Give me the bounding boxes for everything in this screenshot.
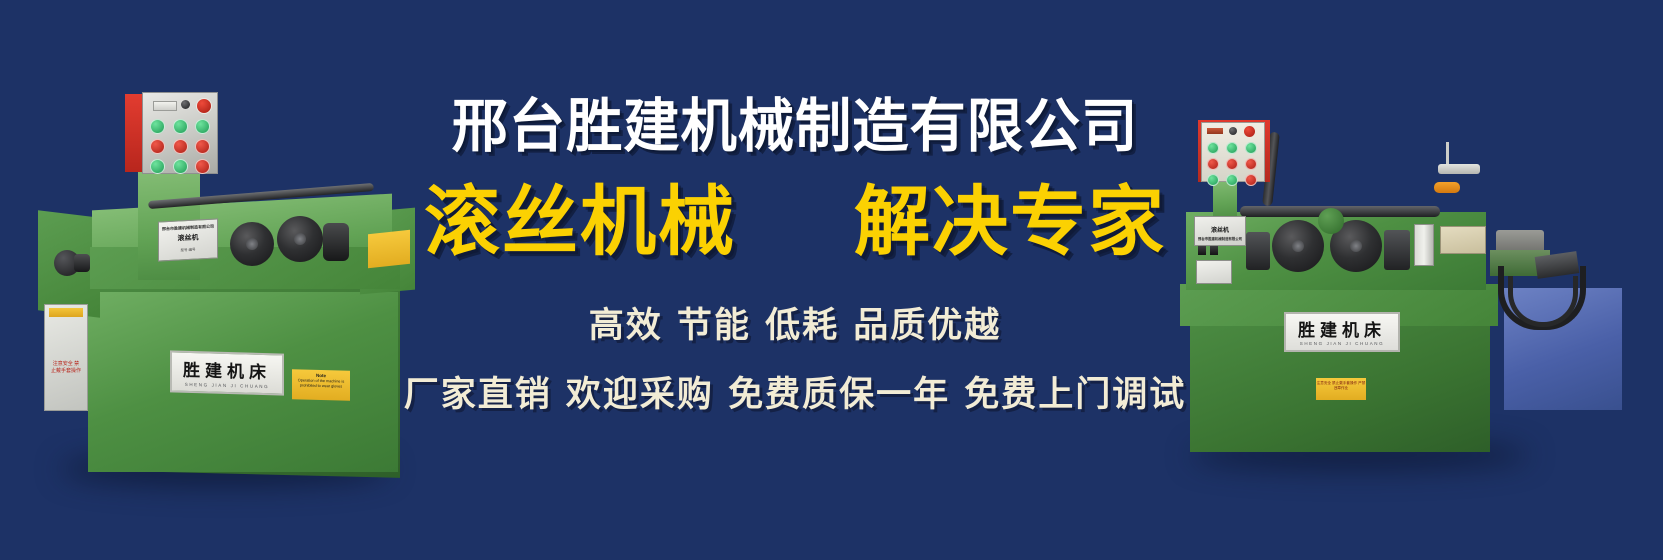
- machine-right-emergency-stop-button[interactable]: [1244, 126, 1255, 137]
- panel-button-g5[interactable]: [1226, 174, 1238, 186]
- machine-right-lubrication-manifold: [1434, 182, 1460, 193]
- subtitle-line-1: 高效 节能 低耗 品质优越: [380, 297, 1210, 348]
- panel-button-g2[interactable]: [173, 119, 188, 134]
- machine-left-panel-display: [153, 101, 177, 111]
- machine-right-brand-sign-pinyin: SHENG JIAN JI CHUANG: [1286, 341, 1398, 346]
- panel-button-r3[interactable]: [195, 139, 210, 154]
- panel-button-r2[interactable]: [1226, 158, 1238, 170]
- machine-left-electrical-cabinet: 注意安全 禁止戴手套操作: [44, 304, 88, 411]
- machine-right-control-panel: [1201, 122, 1265, 182]
- machine-left-panel-button-grid[interactable]: [150, 119, 212, 174]
- thread-rolling-machine-right: 滚丝机 邢台市胜建机械制造有限公司 胜建机床 SHENG JIAN JI CHU…: [1168, 120, 1663, 460]
- subtitle-line-2: 厂家直销 欢迎采购 免费质保一年 免费上门调试: [380, 366, 1210, 417]
- panel-button-r4[interactable]: [195, 159, 210, 174]
- machine-left-cabinet-label: [49, 308, 83, 317]
- headline-row: 滚丝机械 解决专家: [380, 182, 1210, 262]
- machine-right-panel-button-grid[interactable]: [1207, 142, 1259, 186]
- panel-button-r4[interactable]: [1245, 174, 1257, 186]
- machine-left-control-panel: [142, 92, 218, 174]
- panel-button-g1[interactable]: [150, 119, 165, 134]
- machine-right-brand-sign-cn: 胜建机床: [1286, 316, 1398, 341]
- machine-left-nameplate-spec: 型号 编号: [159, 246, 217, 254]
- machine-left-rolling-die-1: [230, 222, 274, 266]
- machine-left-nameplate: 邢台市胜建机械制造有限公司 滚丝机 型号 编号: [158, 218, 218, 261]
- headline-right: 解决专家: [854, 182, 1166, 262]
- machine-right-die-holder-right: [1384, 230, 1410, 270]
- machine-left-rolling-die-2: [277, 216, 323, 262]
- machine-right-gear-cover: [1318, 208, 1344, 234]
- banner-text-block: 邢台胜建机械制造有限公司 滚丝机械 解决专家 高效 节能 低耗 品质优越 厂家直…: [380, 95, 1210, 417]
- machine-left-nameplate-model: 滚丝机: [159, 231, 217, 244]
- panel-button-r3[interactable]: [1245, 158, 1257, 170]
- panel-button-g3[interactable]: [195, 119, 210, 134]
- promo-banner: 邢台市胜建机械制造有限公司 滚丝机 型号 编号 胜建机床 SHENG JIAN …: [0, 0, 1663, 560]
- machine-right-rolling-die-1: [1272, 220, 1324, 272]
- company-name: 邢台胜建机械制造有限公司: [392, 95, 1197, 158]
- machine-right-warning-sticker: 注意安全 禁止戴手套操作 严禁违章作业: [1316, 378, 1366, 400]
- machine-left-spindle-end: [74, 254, 90, 272]
- machine-right-die-holder-left: [1246, 232, 1270, 270]
- thread-rolling-machine-left: 邢台市胜建机械制造有限公司 滚丝机 型号 编号 胜建机床 SHENG JIAN …: [30, 92, 430, 472]
- machine-right-brand-sign: 胜建机床 SHENG JIAN JI CHUANG: [1284, 312, 1400, 352]
- machine-left-emergency-stop-button[interactable]: [196, 98, 212, 114]
- machine-left-die-holder: [323, 223, 349, 261]
- headline-left: 滚丝机械: [424, 182, 736, 262]
- machine-left-panel-knob-icon[interactable]: [181, 100, 190, 109]
- machine-left-warning-sticker: Note Operation of the machine is prohibi…: [292, 369, 350, 401]
- machine-right-warning-text: 注意安全 禁止戴手套操作 严禁违章作业: [1316, 381, 1366, 390]
- panel-button-g4[interactable]: [150, 159, 165, 174]
- machine-right-oiler: [1438, 164, 1480, 174]
- machine-right-tag-plate: [1440, 226, 1486, 254]
- panel-button-g5[interactable]: [173, 159, 188, 174]
- machine-right-switch-2[interactable]: [1210, 246, 1218, 255]
- machine-left-brand-sign-cn: 胜建机床: [172, 355, 282, 383]
- panel-button-g3[interactable]: [1245, 142, 1257, 154]
- panel-button-g2[interactable]: [1226, 142, 1238, 154]
- machine-right-cylinder: [1414, 224, 1434, 266]
- machine-left-cabinet-text: 注意安全 禁止戴手套操作: [51, 361, 81, 381]
- machine-right-panel-knob-icon[interactable]: [1229, 127, 1237, 135]
- panel-button-r2[interactable]: [173, 139, 188, 154]
- panel-button-r1[interactable]: [150, 139, 165, 154]
- machine-left-nameplate-company: 邢台市胜建机械制造有限公司: [159, 223, 217, 231]
- machine-left-brand-sign: 胜建机床 SHENG JIAN JI CHUANG: [170, 350, 284, 395]
- machine-left-warning-text: Operation of the machine is prohibited t…: [292, 378, 350, 390]
